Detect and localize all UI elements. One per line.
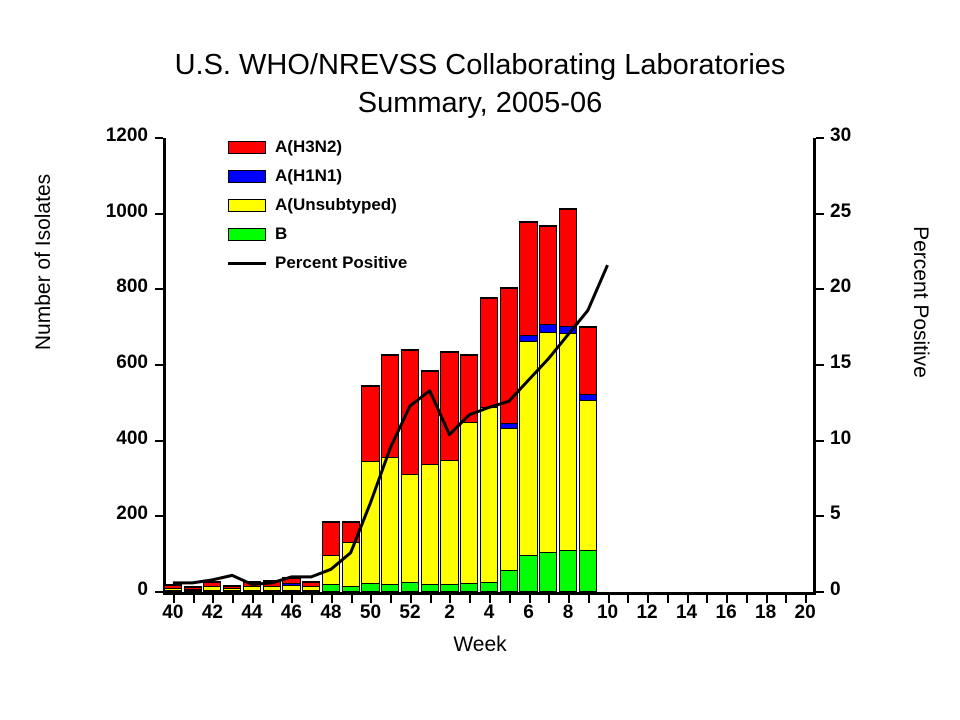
x-tick-label: 50 bbox=[350, 602, 390, 624]
y-tick-label-left: 600 bbox=[88, 352, 148, 374]
y-tick-right bbox=[816, 515, 824, 517]
legend-label: A(H1N1) bbox=[275, 166, 342, 186]
y-tick-label-left: 800 bbox=[88, 276, 148, 298]
y-tick-left bbox=[155, 213, 163, 215]
y-tick-left bbox=[155, 591, 163, 593]
x-tick-label: 48 bbox=[311, 602, 351, 624]
x-tick-label: 12 bbox=[627, 602, 667, 624]
legend-item-aunsubtyped: A(Unsubtyped) bbox=[228, 193, 407, 217]
x-tick-label: 10 bbox=[588, 602, 628, 624]
x-tick-label: 44 bbox=[232, 602, 272, 624]
chart-title-line-1: U.S. WHO/NREVSS Collaborating Laboratori… bbox=[0, 46, 960, 84]
legend-item-percentpositive: Percent Positive bbox=[228, 251, 407, 275]
legend-line-marker bbox=[228, 262, 266, 265]
x-tick-label: 42 bbox=[192, 602, 232, 624]
y-tick-label-left: 1200 bbox=[88, 125, 148, 147]
chart-title: U.S. WHO/NREVSS Collaborating Laboratori… bbox=[0, 46, 960, 122]
y-axis-left-title: Number of Isolates bbox=[32, 132, 56, 392]
x-tick-label: 18 bbox=[746, 602, 786, 624]
x-tick-label: 46 bbox=[271, 602, 311, 624]
y-tick-left bbox=[155, 515, 163, 517]
percent-positive-polyline bbox=[173, 265, 608, 584]
x-tick-label: 52 bbox=[390, 602, 430, 624]
x-tick-label: 14 bbox=[667, 602, 707, 624]
legend-item-ah3n2: A(H3N2) bbox=[228, 135, 407, 159]
chart-canvas: U.S. WHO/NREVSS Collaborating Laboratori… bbox=[0, 0, 960, 720]
y-tick-label-left: 400 bbox=[88, 428, 148, 450]
x-tick-label: 4 bbox=[469, 602, 509, 624]
x-tick-label: 20 bbox=[785, 602, 825, 624]
y-tick-label-right: 15 bbox=[830, 352, 870, 374]
y-tick-right bbox=[816, 288, 824, 290]
y-tick-right bbox=[816, 440, 824, 442]
y-tick-label-left: 0 bbox=[88, 579, 148, 601]
y-tick-label-left: 1000 bbox=[88, 201, 148, 223]
y-tick-left bbox=[155, 364, 163, 366]
y-tick-label-right: 5 bbox=[830, 503, 870, 525]
legend-color-swatch bbox=[228, 170, 266, 183]
y-axis-right-title: Percent Positive bbox=[908, 172, 932, 432]
x-axis-title: Week bbox=[0, 633, 960, 657]
legend-label: B bbox=[275, 224, 287, 244]
y-tick-right bbox=[816, 364, 824, 366]
legend-label: Percent Positive bbox=[275, 253, 407, 273]
y-tick-label-right: 30 bbox=[830, 125, 870, 147]
y-tick-label-right: 10 bbox=[830, 428, 870, 450]
legend-label: A(H3N2) bbox=[275, 137, 342, 157]
y-tick-right bbox=[816, 591, 824, 593]
x-tick-label: 16 bbox=[706, 602, 746, 624]
y-tick-label-right: 20 bbox=[830, 276, 870, 298]
legend: A(H3N2)A(H1N1)A(Unsubtyped)BPercent Posi… bbox=[228, 135, 407, 280]
legend-color-swatch bbox=[228, 199, 266, 212]
y-tick-right bbox=[816, 137, 824, 139]
y-tick-label-right: 25 bbox=[830, 201, 870, 223]
legend-color-swatch bbox=[228, 228, 266, 241]
x-tick-label: 8 bbox=[548, 602, 588, 624]
legend-label: A(Unsubtyped) bbox=[275, 195, 397, 215]
chart-title-line-2: Summary, 2005-06 bbox=[0, 84, 960, 122]
legend-item-ah1n1: A(H1N1) bbox=[228, 164, 407, 188]
y-tick-right bbox=[816, 213, 824, 215]
legend-item-b: B bbox=[228, 222, 407, 246]
legend-color-swatch bbox=[228, 141, 266, 154]
y-tick-left bbox=[155, 288, 163, 290]
y-tick-left bbox=[155, 137, 163, 139]
y-tick-label-left: 200 bbox=[88, 503, 148, 525]
x-tick-label: 6 bbox=[509, 602, 549, 624]
x-tick-label: 40 bbox=[153, 602, 193, 624]
y-tick-left bbox=[155, 440, 163, 442]
x-tick-label: 2 bbox=[429, 602, 469, 624]
y-tick-label-right: 0 bbox=[830, 579, 870, 601]
